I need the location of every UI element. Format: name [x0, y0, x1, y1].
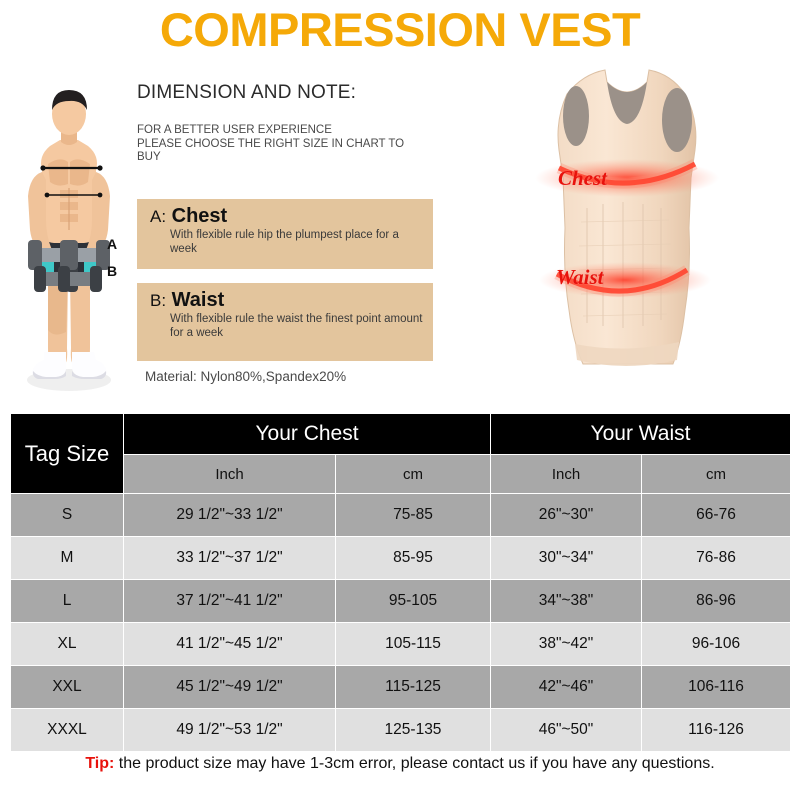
- header-chest-inch: Inch: [124, 455, 336, 494]
- measurement-desc-waist: With flexible rule the waist the finest …: [170, 313, 423, 340]
- header-group-waist: Your Waist: [491, 414, 791, 455]
- cell-chest-cm: 125-135: [336, 709, 491, 752]
- measurement-key-b: B: [150, 291, 161, 310]
- cell-chest-cm: 105-115: [336, 623, 491, 666]
- cell-waist-cm: 76-86: [642, 537, 791, 580]
- male-figure-illustration: A B: [4, 80, 134, 400]
- header-tag-size: Tag Size: [11, 414, 124, 494]
- cell-waist-inch: 42"~46": [491, 666, 642, 709]
- cell-waist-inch: 34"~38": [491, 580, 642, 623]
- measurement-separator-b: :: [161, 291, 166, 310]
- cell-waist-inch: 30"~34": [491, 537, 642, 580]
- note-line-3: BUY: [137, 151, 437, 165]
- cell-chest-cm: 95-105: [336, 580, 491, 623]
- measurement-label-waist: Waist: [172, 289, 225, 311]
- cell-chest-inch: 45 1/2"~49 1/2": [124, 666, 336, 709]
- size-chart-page: COMPRESSION VEST: [0, 0, 800, 800]
- table-row: M 33 1/2"~37 1/2" 85-95 30"~34" 76-86: [11, 537, 791, 580]
- tip-label: Tip:: [85, 755, 114, 772]
- cell-size: M: [11, 537, 124, 580]
- table-row: XXL 45 1/2"~49 1/2" 115-125 42"~46" 106-…: [11, 666, 791, 709]
- measurement-key-a: A: [150, 207, 161, 226]
- measurement-desc-chest: With flexible rule hip the plumpest plac…: [170, 229, 423, 256]
- measure-label-b: B: [107, 263, 117, 279]
- table-row: XL 41 1/2"~45 1/2" 105-115 38"~42" 96-10…: [11, 623, 791, 666]
- measurement-box-waist: B: Waist With flexible rule the waist th…: [137, 283, 433, 361]
- tip-text: the product size may have 1-3cm error, p…: [119, 755, 715, 772]
- cell-size: XL: [11, 623, 124, 666]
- cell-waist-cm: 96-106: [642, 623, 791, 666]
- cell-waist-cm: 86-96: [642, 580, 791, 623]
- cell-waist-inch: 26"~30": [491, 494, 642, 537]
- measure-label-a: A: [107, 236, 117, 252]
- cell-waist-inch: 38"~42": [491, 623, 642, 666]
- cell-waist-cm: 116-126: [642, 709, 791, 752]
- vest-waist-label: Waist: [556, 265, 603, 290]
- measurement-box-chest-title: A: Chest: [150, 205, 433, 228]
- table-header-row-units: Inch cm Inch cm: [11, 455, 791, 494]
- cell-waist-inch: 46"~50": [491, 709, 642, 752]
- cell-chest-cm: 115-125: [336, 666, 491, 709]
- measurement-box-waist-title: B: Waist: [150, 289, 433, 312]
- table-header-row-groups: Tag Size Your Chest Your Waist: [11, 414, 791, 455]
- cell-chest-inch: 29 1/2"~33 1/2": [124, 494, 336, 537]
- cell-chest-inch: 49 1/2"~53 1/2": [124, 709, 336, 752]
- cell-size: XXL: [11, 666, 124, 709]
- cell-chest-cm: 75-85: [336, 494, 491, 537]
- header-group-chest: Your Chest: [124, 414, 491, 455]
- header-waist-cm: cm: [642, 455, 791, 494]
- material-text: Material: Nylon80%,Spandex20%: [145, 369, 346, 384]
- page-title: COMPRESSION VEST: [0, 2, 800, 57]
- note-line-2: PLEASE CHOOSE THE RIGHT SIZE IN CHART TO: [137, 138, 437, 152]
- table-body: S 29 1/2"~33 1/2" 75-85 26"~30" 66-76 M …: [11, 494, 791, 752]
- header-waist-inch: Inch: [491, 455, 642, 494]
- note-line-1: FOR A BETTER USER EXPERIENCE: [137, 124, 437, 138]
- measurement-separator-a: :: [161, 207, 166, 226]
- tip-note: Tip: the product size may have 1-3cm err…: [0, 755, 800, 773]
- cell-size: L: [11, 580, 124, 623]
- cell-waist-cm: 106-116: [642, 666, 791, 709]
- cell-size: S: [11, 494, 124, 537]
- cell-chest-inch: 33 1/2"~37 1/2": [124, 537, 336, 580]
- size-chart-table: Tag Size Your Chest Your Waist Inch cm I…: [10, 413, 791, 752]
- dimension-heading: DIMENSION AND NOTE:: [137, 82, 356, 104]
- table-row: S 29 1/2"~33 1/2" 75-85 26"~30" 66-76: [11, 494, 791, 537]
- cell-size: XXXL: [11, 709, 124, 752]
- measurement-box-chest: A: Chest With flexible rule hip the plum…: [137, 199, 433, 269]
- table-row: L 37 1/2"~41 1/2" 95-105 34"~38" 86-96: [11, 580, 791, 623]
- cell-chest-inch: 37 1/2"~41 1/2": [124, 580, 336, 623]
- vest-svg: [455, 58, 800, 408]
- measurement-label-chest: Chest: [172, 205, 228, 227]
- usage-note: FOR A BETTER USER EXPERIENCE PLEASE CHOO…: [137, 124, 437, 165]
- table-head: Tag Size Your Chest Your Waist Inch cm I…: [11, 414, 791, 494]
- vest-product-image: Chest Waist: [455, 58, 800, 408]
- header-chest-cm: cm: [336, 455, 491, 494]
- table-row: XXXL 49 1/2"~53 1/2" 125-135 46"~50" 116…: [11, 709, 791, 752]
- cell-waist-cm: 66-76: [642, 494, 791, 537]
- vest-chest-label: Chest: [558, 166, 607, 191]
- cell-chest-inch: 41 1/2"~45 1/2": [124, 623, 336, 666]
- cell-chest-cm: 85-95: [336, 537, 491, 580]
